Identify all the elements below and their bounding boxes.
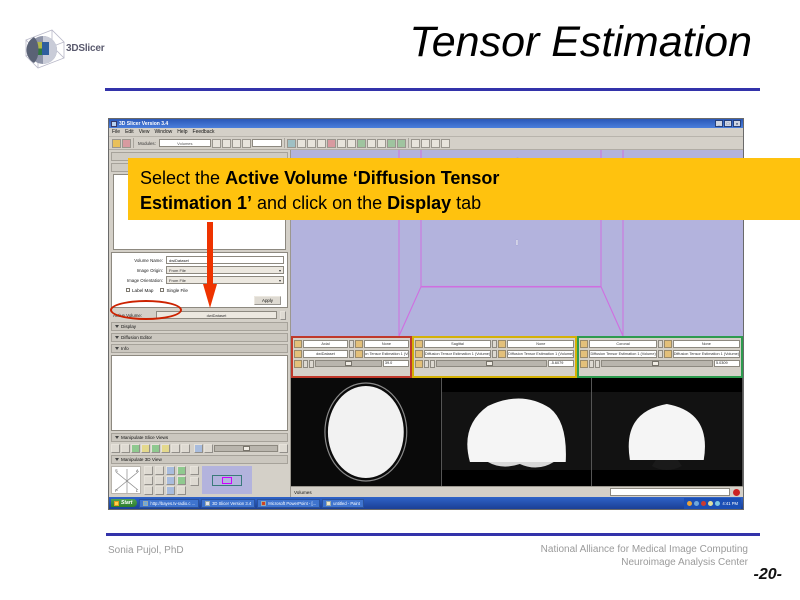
taskbar-item-label: http://bayes.tv-radio.c ... [150,501,195,506]
layout-compare-icon[interactable] [327,139,336,148]
person-icon[interactable] [190,477,199,486]
slice-tool-green-icon[interactable] [151,444,160,453]
manipulate-slice-views-label: Manipulate Slice Views [121,435,168,440]
slice-bg-icon[interactable] [294,350,302,358]
callout-line1-bold: Active Volume ‘Diffusion Tensor [225,168,499,188]
chevron-down-icon [115,347,119,350]
slice-next-icon[interactable] [309,360,314,368]
slice-label-icon[interactable] [498,350,506,358]
slice-offset-value[interactable]: 39.0 [383,360,409,367]
svg-text:S: S [115,468,118,473]
slice-tool-compare-icon[interactable] [181,444,190,453]
image-orientation-select[interactable]: From File ▾ [166,276,284,284]
view3d-thumbnail[interactable] [202,466,252,494]
windows-flag-icon [114,501,119,506]
system-tray: 4:41 PM [684,498,741,509]
slice-images-row [291,378,743,486]
slice-prev-icon[interactable] [589,360,594,368]
active-volume-value: dwiDataset [207,313,227,318]
slice-orientation-spinner[interactable] [658,340,663,348]
tray-icon-4[interactable] [708,501,713,506]
slice-offset-line: 39.0 [294,359,409,368]
close-button[interactable]: × [733,120,741,127]
slice-foreground-select[interactable]: None [364,340,409,348]
minimize-button[interactable]: _ [715,120,723,127]
slice-background-select[interactable]: dwiDataset [303,350,348,358]
single-file-checkbox[interactable] [160,288,164,292]
taskbar-item-browser[interactable]: http://bayes.tv-radio.c ... [139,499,199,508]
start-button[interactable]: Start [111,499,137,507]
slice-visibility-icon[interactable] [415,340,423,348]
status-bar: Volumes [291,486,743,497]
footer-org-line2: Neuroimage Analysis Center [541,556,748,569]
chevron-down-icon [115,336,119,339]
page-number: -20- [754,566,782,584]
rock-icon[interactable] [177,476,186,485]
image-orientation-value: From File [169,278,186,283]
slice-link-icon[interactable] [580,360,588,368]
main-toolbar: Modules: Volumes [109,137,743,150]
modules-label: Modules: [136,141,158,146]
slice-image-coronal[interactable] [592,378,743,486]
section-manipulate-3d-view[interactable]: Manipulate 3D View [111,455,288,464]
toolbar-separator [408,138,409,148]
save-scene-icon[interactable] [122,139,131,148]
slice-orientation-line: Sagittal None [415,339,575,348]
slice-tool-link-icon[interactable] [194,444,203,453]
apply-button[interactable]: Apply [254,296,281,305]
slice-visibility-icon[interactable] [294,340,302,348]
slice-controls-row: Axial None dwiDataset Diffusion Tensor E… [291,336,743,378]
red-ellipse-annotation [110,300,182,320]
slice-orientation-select[interactable]: Coronal [589,340,656,348]
slice-tool-crosshair-icon[interactable] [171,444,180,453]
callout-line2-mid: and click on the [252,193,387,213]
clock: 4:41 PM [722,501,738,506]
slice-tool-more-icon[interactable] [279,444,288,453]
slice-orientation-spinner[interactable] [349,340,354,348]
section-info-label: Info [121,346,129,351]
view3d-extra-buttons [190,466,199,486]
section-display-label: Display [121,324,136,329]
slice-orientation-select[interactable]: Axial [303,340,348,348]
pin-icon[interactable] [421,139,430,148]
slice-next-icon[interactable] [430,360,435,368]
chevron-down-icon [115,325,119,328]
capture-icon[interactable] [190,466,199,475]
image-orientation-row: Image Orientation: From File ▾ [112,275,287,285]
windows-taskbar: Start http://bayes.tv-radio.c ... 3D Sli… [109,497,743,509]
slider-thumb[interactable] [243,446,250,451]
slice-background-spinner[interactable] [658,350,663,358]
slice-label-select[interactable]: Diffusion Tensor Estimation 1 (Volume) [364,350,409,358]
slice-background-spinner[interactable] [492,350,497,358]
load-scene-icon[interactable] [112,139,121,148]
slice-label-select[interactable]: Diffusion Tensor Estimation 1 (Volume) [507,350,574,358]
powerpoint-icon [261,501,266,506]
slice-volume-line: Diffusion Tensor Estimation 1 (Volume) D… [580,349,740,358]
chevron-down-icon [115,436,119,439]
callout-line2-bold-a: Estimation 1’ [140,193,252,213]
slice-offset-slider[interactable] [436,360,548,367]
reset-view-icon[interactable] [166,466,175,475]
slider-thumb[interactable] [345,361,352,366]
ruler-icon[interactable] [367,139,376,148]
help-icon[interactable] [441,139,450,148]
slice-label-icon[interactable] [664,350,672,358]
view3d-tools-row: S A P L [111,466,288,495]
taskbar-item-slicer[interactable]: 3D Slicer Version 3.4 [201,499,255,508]
toolbar-separator [133,138,134,148]
image-orientation-label: Image Orientation: [115,278,163,283]
status-indicator-icon[interactable] [733,489,740,496]
slice-tool-label-icon[interactable] [161,444,170,453]
slice-fg-icon[interactable] [355,340,363,348]
view3d-button-grid [144,466,187,495]
center-view-icon[interactable] [166,476,175,485]
slice-offset-value[interactable]: 5.0309 [714,360,740,367]
image-origin-label: Image Origin: [115,268,163,273]
tray-icon-3[interactable] [701,501,706,506]
slide-header: 3DSlicer Tensor Estimation [0,0,800,100]
slice-controls-red: Axial None dwiDataset Diffusion Tensor E… [291,336,412,378]
redo-icon[interactable] [397,139,406,148]
layout-four-up-icon[interactable] [297,139,306,148]
title-divider [105,88,760,91]
slice-tool-visibility-icon[interactable] [111,444,120,453]
footer-divider [106,533,760,536]
slice-background-spinner[interactable] [349,350,354,358]
single-file-label: Single File [166,288,187,293]
paint-icon [326,501,331,506]
callout-line1-pre: Select the [140,168,225,188]
slice-opacity-slider[interactable] [214,445,278,452]
layout-conventional-icon[interactable] [287,139,296,148]
module-history-icon[interactable] [232,139,241,148]
module-scratch-area [111,355,288,431]
instruction-callout: Select the Active Volume ‘Diffusion Tens… [128,158,800,220]
slice-background-select[interactable]: Diffusion Tensor Estimation 1 (Volume) [424,350,491,358]
callout-line2-bold-b: Display [387,193,451,213]
menu-item-view[interactable]: View [139,129,150,135]
fullscreen-icon[interactable] [166,486,175,495]
layout-lightbox-icon[interactable] [337,139,346,148]
slice-bg-icon[interactable] [415,350,423,358]
footer-author: Sonia Pujol, PhD [108,545,184,556]
slice-prev-icon[interactable] [303,360,308,368]
slice-orientation-spinner[interactable] [492,340,497,348]
slice-controls-green: Coronal None Diffusion Tensor Estimation… [577,336,743,378]
footer-org-line1: National Alliance for Medical Image Comp… [541,543,748,556]
manipulate-3d-view-label: Manipulate 3D View [121,457,162,462]
tray-icon-5[interactable] [715,501,720,506]
slice-orientation-line: Axial None [294,339,409,348]
red-arrow-annotation [203,222,217,308]
pan-icon[interactable] [144,476,153,485]
slice-volume-line: dwiDataset Diffusion Tensor Estimation 1… [294,349,409,358]
slice-tool-annotate-icon[interactable] [204,444,213,453]
slice-label-select[interactable]: Diffusion Tensor Estimation 1 (Volume) [673,350,740,358]
section-diffusion-editor[interactable]: Diffusion Editor [111,333,288,342]
slicer-icon [205,501,210,506]
module-select[interactable]: Volumes [159,139,211,147]
lock-icon[interactable] [431,139,440,148]
volume-name-label: Volume Name: [115,258,163,263]
slice-image-sagittal[interactable] [442,378,593,486]
slice-fg-icon[interactable] [498,340,506,348]
slice-background-select[interactable]: Diffusion Tensor Estimation 1 (Volume) [589,350,656,358]
active-volume-spinner[interactable] [280,311,286,320]
label-map-label: Label Map [132,288,153,293]
slice-visibility-icon[interactable] [580,340,588,348]
slice-orientation-line: Coronal None [580,339,740,348]
slice-orientation-select[interactable]: Sagittal [424,340,491,348]
taskbar-item-powerpoint[interactable]: Microsoft PowerPoint - [... [257,499,320,508]
slice-next-icon[interactable] [595,360,600,368]
menu-item-file[interactable]: File [112,129,120,135]
slice-label-icon[interactable] [355,350,363,358]
chevron-down-icon [115,458,119,461]
slice-offset-line: 5.0309 [580,359,740,368]
slider-thumb[interactable] [486,361,493,366]
taskbar-item-label: untitled - Paint [333,501,360,506]
status-progress-field [610,488,730,496]
slice-view-tools [111,444,288,453]
browser-icon [143,501,148,506]
slicer-logo: 3DSlicer [22,28,132,72]
menu-item-feedback[interactable]: Feedback [193,129,215,135]
spin-icon[interactable] [177,466,186,475]
svg-text:L: L [136,488,139,493]
slice-image-axial[interactable] [291,378,442,486]
slice-link-icon[interactable] [294,360,302,368]
slicer-logo-text: 3DSlicer [66,43,104,54]
slice-volume-line: Diffusion Tensor Estimation 1 (Volume) D… [415,349,575,358]
section-diffusion-editor-label: Diffusion Editor [121,335,152,340]
camera-icon[interactable] [411,139,420,148]
mouse-mode-icon[interactable] [347,139,356,148]
maximize-button[interactable]: □ [724,120,732,127]
image-origin-select[interactable]: From File ▾ [166,266,284,274]
image-origin-value: From File [169,268,186,273]
slice-offset-line: -5.6079 [415,359,575,368]
slice-offset-slider[interactable] [315,360,382,367]
slice-controls-yellow: Sagittal None Diffusion Tensor Estimatio… [412,336,578,378]
screenshot-icon[interactable] [377,139,386,148]
tray-icon-1[interactable] [687,501,692,506]
app-icon [111,121,117,127]
layout-one-up-icon[interactable] [307,139,316,148]
orientation-label-i: I [516,240,518,247]
slider-thumb[interactable] [652,361,659,366]
start-label: Start [121,500,132,506]
menu-item-edit[interactable]: Edit [125,129,134,135]
section-display[interactable]: Display [111,322,288,331]
module-refresh-icon[interactable] [242,139,251,148]
layout-tabbed-icon[interactable] [317,139,326,148]
menu-bar: File Edit View Window Help Feedback [109,128,743,137]
svg-text:A: A [136,468,139,473]
section-manipulate-slice-views[interactable]: Manipulate Slice Views [111,433,288,442]
menu-item-window[interactable]: Window [154,129,172,135]
section-info[interactable]: Info [111,344,288,353]
rotate-icon[interactable] [144,466,153,475]
image-origin-row: Image Origin: From File ▾ [112,265,287,275]
zoom-out-icon[interactable] [155,476,164,485]
window-titlebar: 3D Slicer Version 3.4 _ □ × [109,119,743,128]
taskbar-item-label: 3D Slicer Version 3.4 [212,501,251,506]
taskbar-item-paint[interactable]: untitled - Paint [322,499,364,508]
module-search-input[interactable] [252,139,282,147]
fiducial-icon[interactable] [357,139,366,148]
slice-bg-icon[interactable] [580,350,588,358]
svg-text:P: P [115,488,118,493]
module-prev-icon[interactable] [212,139,221,148]
status-label: Volumes [294,490,312,495]
tray-icon-2[interactable] [694,501,699,506]
slice-offset-slider[interactable] [601,360,713,367]
slice-foreground-select[interactable]: None [507,340,574,348]
axes-toggle-icon[interactable] [155,486,164,495]
callout-line2-post: tab [451,193,481,213]
slicer-logo-icon [22,28,68,72]
window-title: 3D Slicer Version 3.4 [119,121,714,127]
taskbar-item-label: Microsoft PowerPoint - [... [268,501,316,506]
slice-foreground-select[interactable]: None [673,340,740,348]
slice-prev-icon[interactable] [424,360,429,368]
toolbar-separator [284,138,285,148]
background-color-icon[interactable] [177,486,186,495]
label-map-checkbox[interactable] [126,288,130,292]
undo-icon[interactable] [387,139,396,148]
slice-tool-red-icon[interactable] [131,444,140,453]
menu-item-help[interactable]: Help [177,129,187,135]
chevron-down-icon: ▾ [279,278,281,283]
stereo-icon[interactable] [144,486,153,495]
module-next-icon[interactable] [222,139,231,148]
orientation-axes-widget[interactable]: S A P L [111,466,141,494]
zoom-in-icon[interactable] [155,466,164,475]
slice-offset-value[interactable]: -5.6079 [548,360,574,367]
slice-tool-yellow-icon[interactable] [141,444,150,453]
slice-link-icon[interactable] [415,360,423,368]
chevron-down-icon: ▾ [279,268,281,273]
slice-tool-fit-icon[interactable] [121,444,130,453]
page-title: Tensor Estimation [409,18,752,67]
footer-organization: National Alliance for Medical Image Comp… [541,543,748,569]
volume-name-input[interactable]: dwiDataset [166,256,284,264]
checkbox-row: Label Map Single File [112,285,287,295]
volume-name-row: Volume Name: dwiDataset [112,255,287,265]
slice-fg-icon[interactable] [664,340,672,348]
